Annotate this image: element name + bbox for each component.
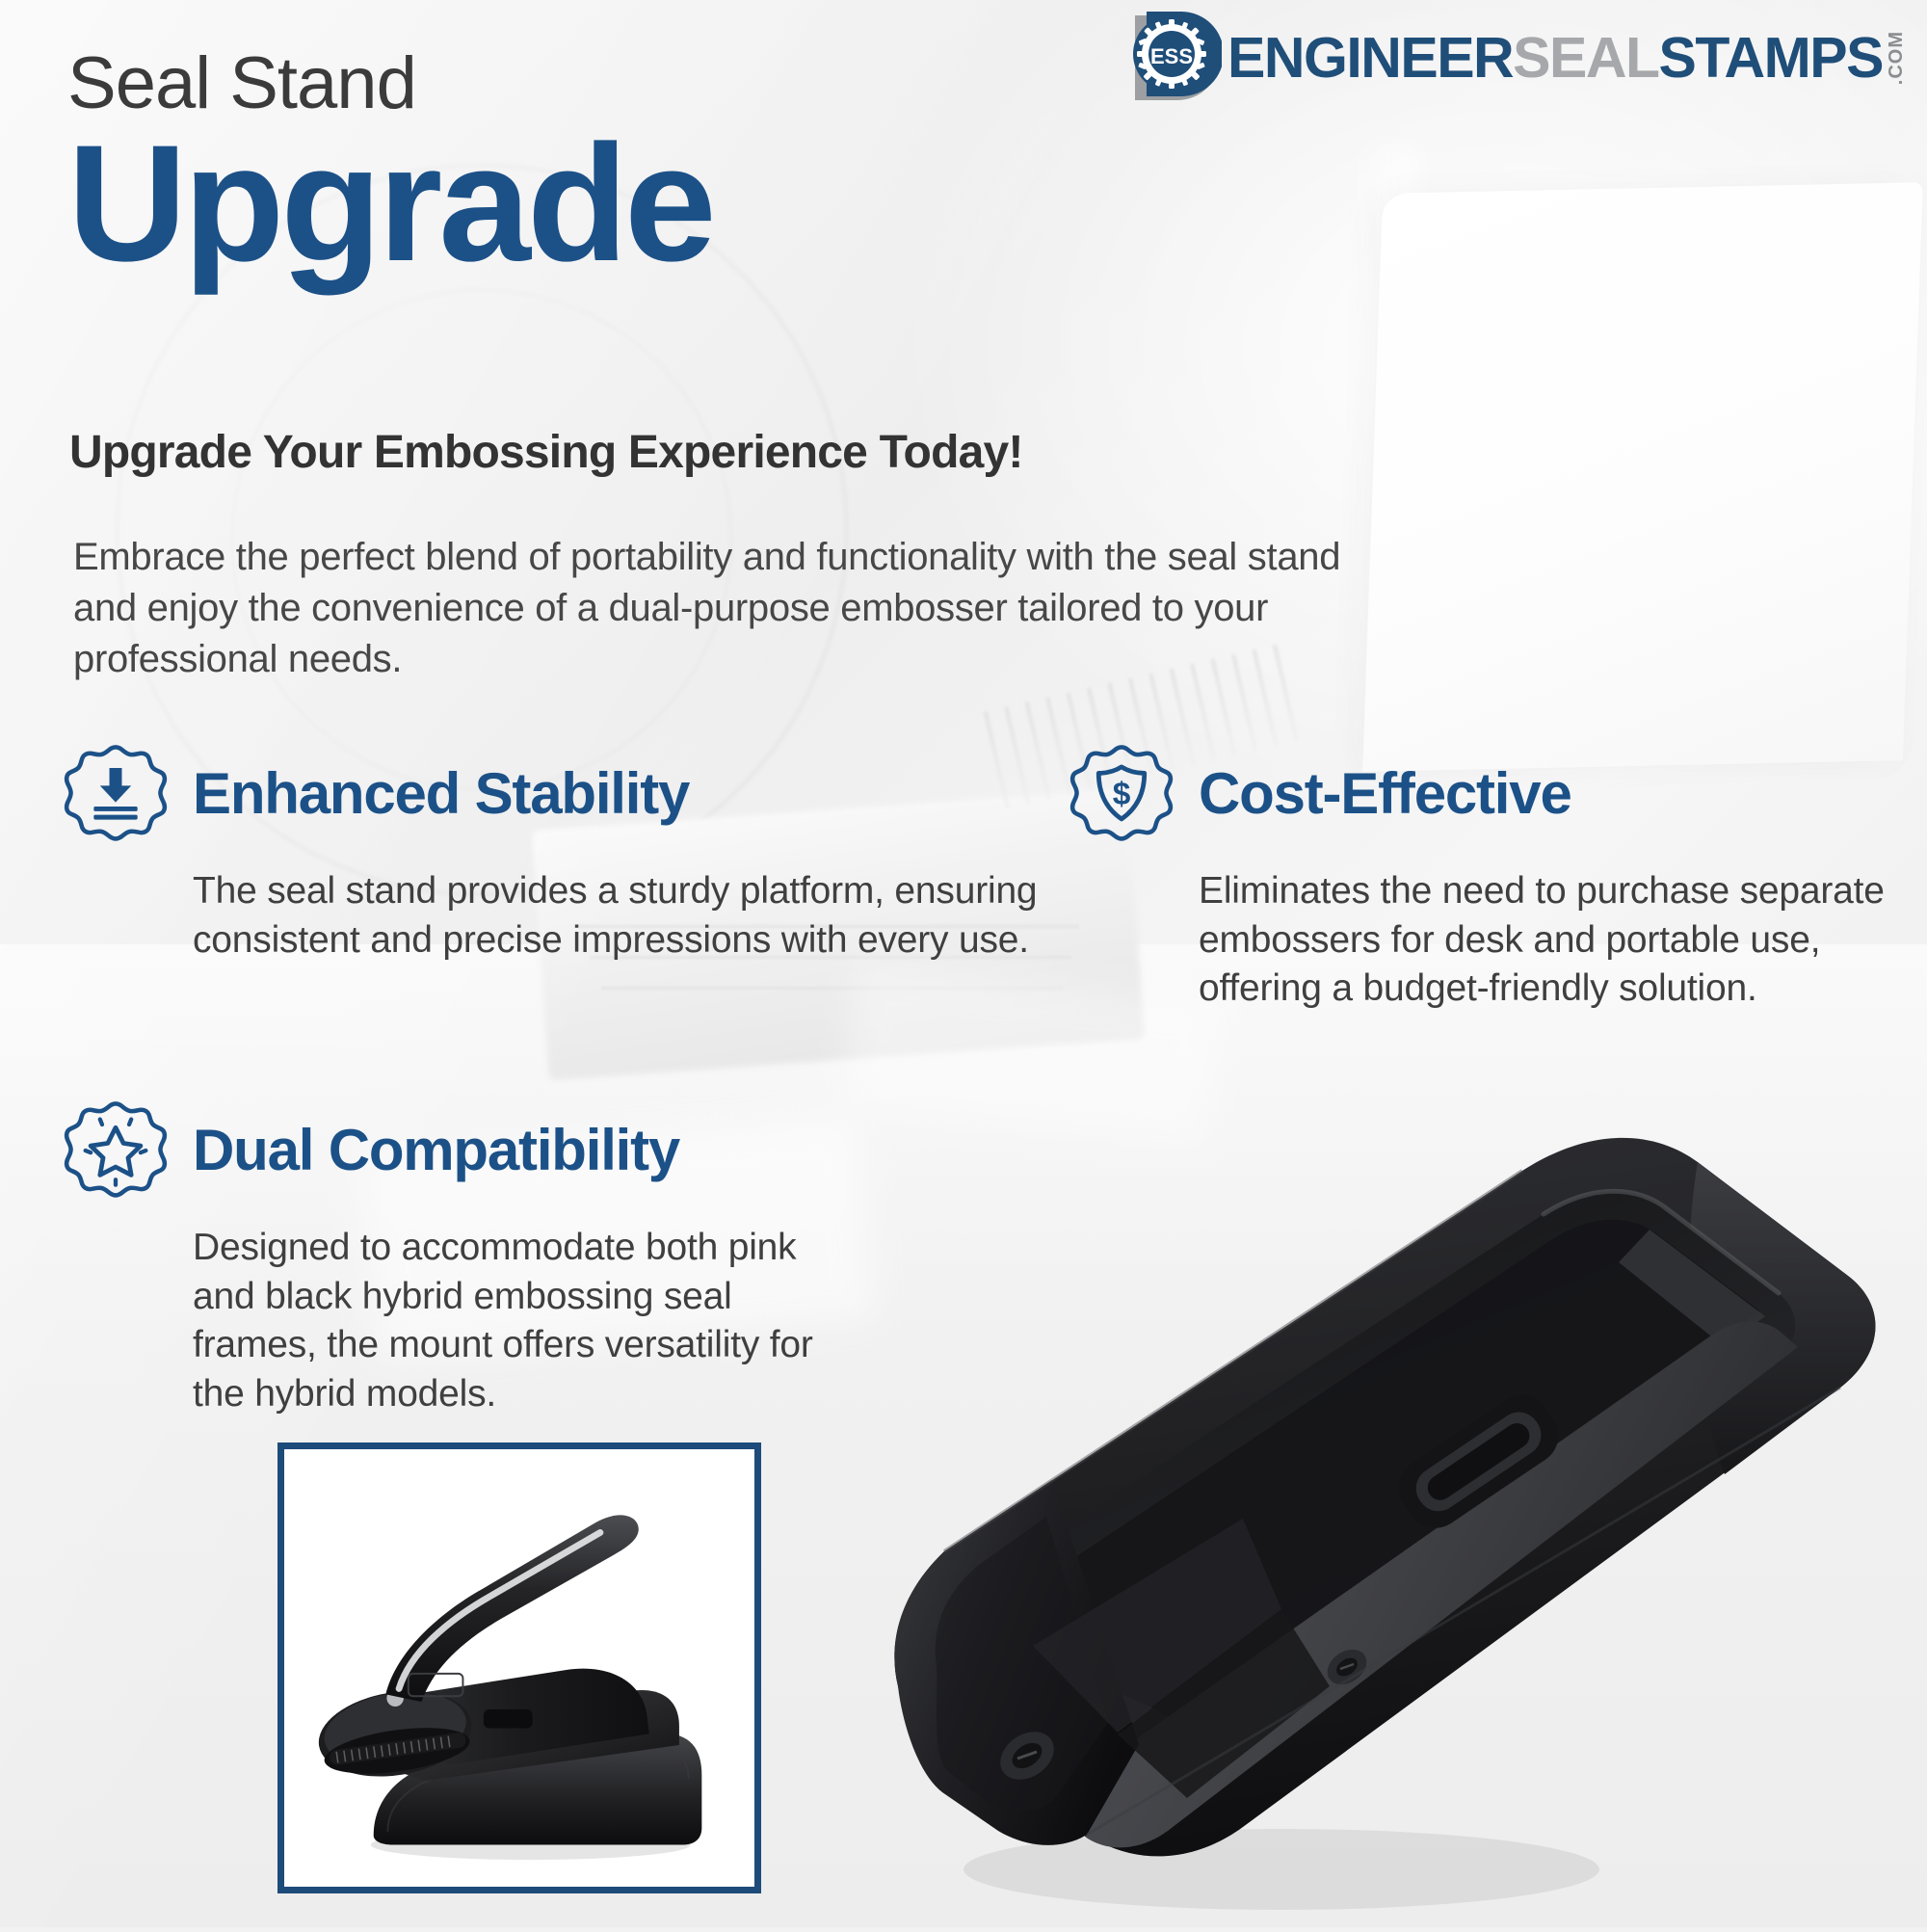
feature-body: The seal stand provides a sturdy platfor… [193,867,1041,965]
svg-text:$: $ [1113,777,1131,812]
headline-title: Upgrade [67,127,713,279]
logo-word-engineer: ENGINEER [1227,30,1513,87]
ess-badge-text: ESS [1150,44,1193,68]
headline-kicker: Seal Stand [67,46,713,121]
feature-body: Designed to accommodate both pink and bl… [193,1224,848,1419]
ess-badge-icon: ESS [1122,8,1222,108]
feature-header: Enhanced Stability [64,742,1046,846]
feature-body: Eliminates the need to purchase separate… [1199,867,1912,1014]
intro-paragraph: Embrace the perfect blend of portability… [73,532,1345,686]
inset-product-photo [277,1442,761,1893]
logo-wordmark: ENGINEER SEAL STAMPS .COM [1227,23,1906,93]
feature-title: Dual Compatibility [193,1122,679,1179]
badge-star-sparkle-icon [64,1098,168,1203]
badge-press-down-icon [64,742,168,846]
feature-cost-effective: $ Cost-Effective Eliminates the need to … [1069,742,1917,1014]
logo-word-seal: SEAL [1513,30,1658,87]
feature-title: Enhanced Stability [193,765,689,823]
embosser-on-stand-illustration [284,1449,754,1887]
feature-header: $ Cost-Effective [1069,742,1917,846]
main-product-photo [829,1070,1927,1927]
feature-enhanced-stability: Enhanced Stability The seal stand provid… [64,742,1046,965]
logo-word-stamps: STAMPS [1659,30,1883,87]
feature-title: Cost-Effective [1199,765,1571,823]
feature-dual-compatibility: Dual Compatibility Designed to accommoda… [64,1098,950,1419]
subheading: Upgrade Your Embossing Experience Today! [69,426,1023,479]
badge-shield-dollar-icon: $ [1069,742,1174,846]
logo-tld: .COM [1887,31,1906,85]
brand-logo[interactable]: ESS ENGINEER SEAL STAMPS .COM [1122,8,1906,108]
seal-stand-illustration [829,1070,1927,1927]
headline-block: Seal Stand Upgrade [67,46,713,279]
feature-header: Dual Compatibility [64,1098,950,1203]
